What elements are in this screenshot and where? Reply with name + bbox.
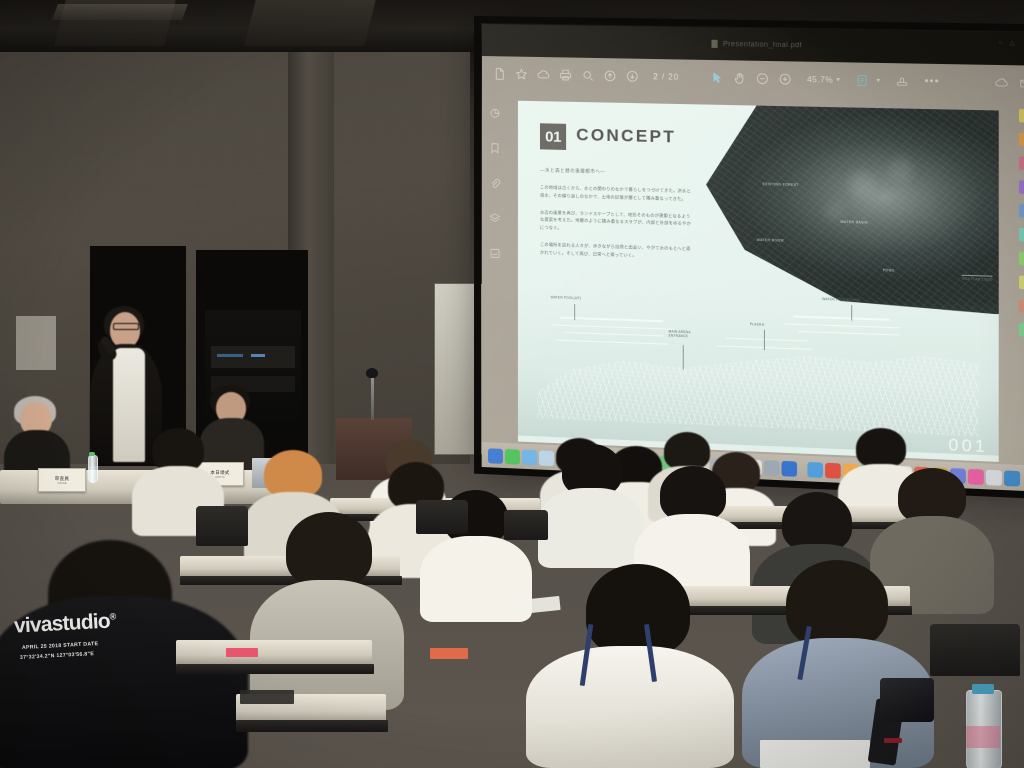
cloud-upload-icon[interactable] <box>532 63 554 85</box>
rack-led <box>217 354 243 357</box>
aerial-site-plan-image: EXISTING FOREST WATER BASIN WATER RIVER … <box>697 104 999 314</box>
registered-mark: ® <box>109 611 115 621</box>
annotation-tool-icon[interactable] <box>1018 109 1024 123</box>
aerial-label: EXISTING FOREST <box>763 182 799 187</box>
sidebar-item-attachments[interactable] <box>489 176 501 194</box>
dock-icon[interactable] <box>825 462 841 478</box>
annotation-tool-icon[interactable] <box>1018 204 1024 218</box>
overflow-menu-icon[interactable]: ••• <box>924 75 939 88</box>
app-body: 2 / 20 <box>482 56 1024 493</box>
aerial-label: WATER RIVER <box>757 238 784 243</box>
page-indicator[interactable]: 2 / 20 <box>653 72 679 82</box>
strata-line <box>793 316 890 320</box>
sidebar-item-signature[interactable] <box>489 246 501 264</box>
smartphone <box>240 690 294 704</box>
dock-icon[interactable] <box>807 461 823 477</box>
sidebar-item-thumbnails[interactable] <box>489 106 501 124</box>
dock-icon[interactable] <box>764 460 780 476</box>
search-icon[interactable] <box>576 64 598 87</box>
chair-back <box>930 624 1020 676</box>
zoom-level-value[interactable]: 45.7% <box>807 74 833 84</box>
bottle-cap <box>89 452 95 456</box>
paper-sheet <box>760 740 870 768</box>
document-icon <box>712 40 718 48</box>
screen-surface: Presentation_final.pdf ○ △ ⋮⋮ <box>482 24 1024 493</box>
cursor-select-icon[interactable] <box>706 66 729 89</box>
annotation-tool-icon[interactable] <box>1018 252 1024 266</box>
presenter-shirt <box>113 348 145 462</box>
annotation-tool-icon[interactable] <box>1018 133 1024 147</box>
pdf-sidebar <box>482 90 508 469</box>
desk-edge <box>236 720 388 732</box>
annotation-tool-rail[interactable] <box>1009 100 1024 492</box>
desk-edge <box>176 664 374 674</box>
render-callout: PLAZA A <box>750 322 765 327</box>
chair-back <box>196 506 248 546</box>
slide-number: 01 <box>545 128 561 145</box>
wall-notice-sheet <box>16 316 56 370</box>
window-title: Presentation_final.pdf <box>723 40 802 48</box>
podium-microphone-stand <box>371 372 374 420</box>
zoom-out-icon[interactable] <box>751 67 774 90</box>
strata-line <box>560 317 664 322</box>
dock-icon[interactable] <box>1004 470 1020 486</box>
page-total: 20 <box>668 72 679 81</box>
strata-line <box>784 323 901 328</box>
strata-line <box>555 339 668 344</box>
titlebar-right-controls: ○ △ ⋮⋮ <box>998 39 1024 47</box>
slide-paragraph: この地域は古くから、水との関わりのなかで暮らしをつづけてきた。洪水と渇水、その繰… <box>540 183 692 203</box>
placard-role: JUDGE <box>57 482 67 485</box>
annotation-tool-icon[interactable] <box>1018 275 1024 289</box>
arrow-down-icon[interactable] <box>621 64 643 87</box>
rack-panel <box>211 346 295 368</box>
callout-leader-line <box>683 345 684 369</box>
window-control[interactable]: ○ <box>998 40 1002 46</box>
slide-subtitle: —水と森と暦の重層都市へ— <box>540 167 605 175</box>
name-placard: 审査員 JUDGE <box>38 468 86 492</box>
stamp-icon[interactable] <box>891 69 914 92</box>
slide-paragraph: この場所を訪れる人々が、歩きながら自然と出会い、やがて水のもとへと導かれていく。… <box>540 241 692 261</box>
chevron-down-icon[interactable]: ▾ <box>836 75 840 83</box>
dock-icon[interactable] <box>505 448 520 464</box>
dock-icon[interactable] <box>782 460 798 476</box>
strata-line <box>798 331 900 336</box>
chair-back <box>504 510 548 540</box>
strata-line <box>565 332 664 337</box>
page-separator: / <box>662 72 665 81</box>
zoom-in-icon[interactable] <box>774 67 797 90</box>
slide-number-badge: 01 <box>540 123 566 150</box>
dock-icon[interactable] <box>986 469 1002 485</box>
callout-leader-line <box>574 304 575 321</box>
cloud-sync-icon[interactable] <box>990 71 1013 94</box>
fit-page-chevron-icon[interactable]: ▾ <box>877 76 881 84</box>
bottle-label <box>966 726 1000 748</box>
lecture-hall-photo: Presentation_final.pdf ○ △ ⋮⋮ <box>0 0 1024 768</box>
eyeglasses <box>113 323 139 330</box>
ceiling-light-strip <box>52 4 188 20</box>
callout-leader-line <box>851 306 852 321</box>
chair-back <box>416 500 468 534</box>
pdf-page: 01 CONCEPT —水と森と暦の重層都市へ— この地域は古くから、水との関わ… <box>518 101 999 462</box>
sidebar-item-bookmarks[interactable] <box>489 141 501 159</box>
slide-title: CONCEPT <box>576 125 676 147</box>
render-callout: MAIN ARENA ENTRANCE <box>669 330 691 339</box>
strata-line <box>551 324 674 329</box>
annotation-tool-icon[interactable] <box>1018 156 1024 170</box>
aerial-label: WATER BASIN <box>840 220 867 225</box>
callout-leader-line <box>764 330 765 350</box>
ceiling-beam <box>244 0 375 46</box>
video-camera <box>880 678 934 722</box>
rack-led <box>251 354 265 357</box>
annotation-tool-icon[interactable] <box>1018 180 1024 194</box>
notebook <box>226 648 258 657</box>
dock-icon[interactable] <box>968 468 984 484</box>
document-icon[interactable] <box>488 62 510 84</box>
hand-pan-icon[interactable] <box>728 66 751 89</box>
star-icon[interactable] <box>510 62 532 84</box>
notebook <box>430 648 468 659</box>
annotation-tool-icon[interactable] <box>1018 299 1024 313</box>
fit-page-icon[interactable] <box>850 69 873 92</box>
architectural-render: WATER POOL(UP) MAIN ARENA ENTRANCE PLAZA… <box>518 286 999 456</box>
projection-screen: Presentation_final.pdf ○ △ ⋮⋮ <box>482 24 1024 493</box>
desk-row <box>176 640 372 666</box>
bottle-cap <box>972 684 994 694</box>
dock-icon[interactable] <box>522 449 537 465</box>
strata-line <box>726 338 808 342</box>
mail-icon[interactable] <box>1014 71 1024 94</box>
dock-icon[interactable] <box>488 448 503 464</box>
dock-icon[interactable] <box>539 450 554 466</box>
page-current: 2 <box>653 72 659 81</box>
camera-accent <box>884 738 902 743</box>
tshirt-brand-text: vivastudio <box>13 610 110 638</box>
site-plan-scale-note: SITE PLAN 1:5000 <box>962 275 992 282</box>
annotation-tool-icon[interactable] <box>1018 228 1024 242</box>
arrow-up-icon[interactable] <box>598 64 620 87</box>
render-callout: WATER POOL(DOWN) <box>822 297 860 302</box>
slide-paragraph: 水辺の風景を再び、ランドスケープとして、地形そのものが建築となるような提案を考え… <box>540 208 692 236</box>
water-bottle <box>88 455 98 483</box>
annotation-tool-icon[interactable] <box>1018 323 1024 337</box>
aerial-label: POND <box>883 268 895 272</box>
podium-microphone <box>366 368 378 378</box>
slide-body-text: この地域は古くから、水との関わりのなかで暮らしをつづけてきた。洪水と渇水、その繰… <box>540 183 692 269</box>
aerial-texture <box>697 104 999 314</box>
render-callout: WATER POOL(UP) <box>551 296 581 301</box>
sidebar-item-layers[interactable] <box>489 211 501 229</box>
window-control[interactable]: △ <box>1010 39 1015 46</box>
slide-page-number: 001 <box>948 435 988 457</box>
printer-icon[interactable] <box>554 63 576 86</box>
